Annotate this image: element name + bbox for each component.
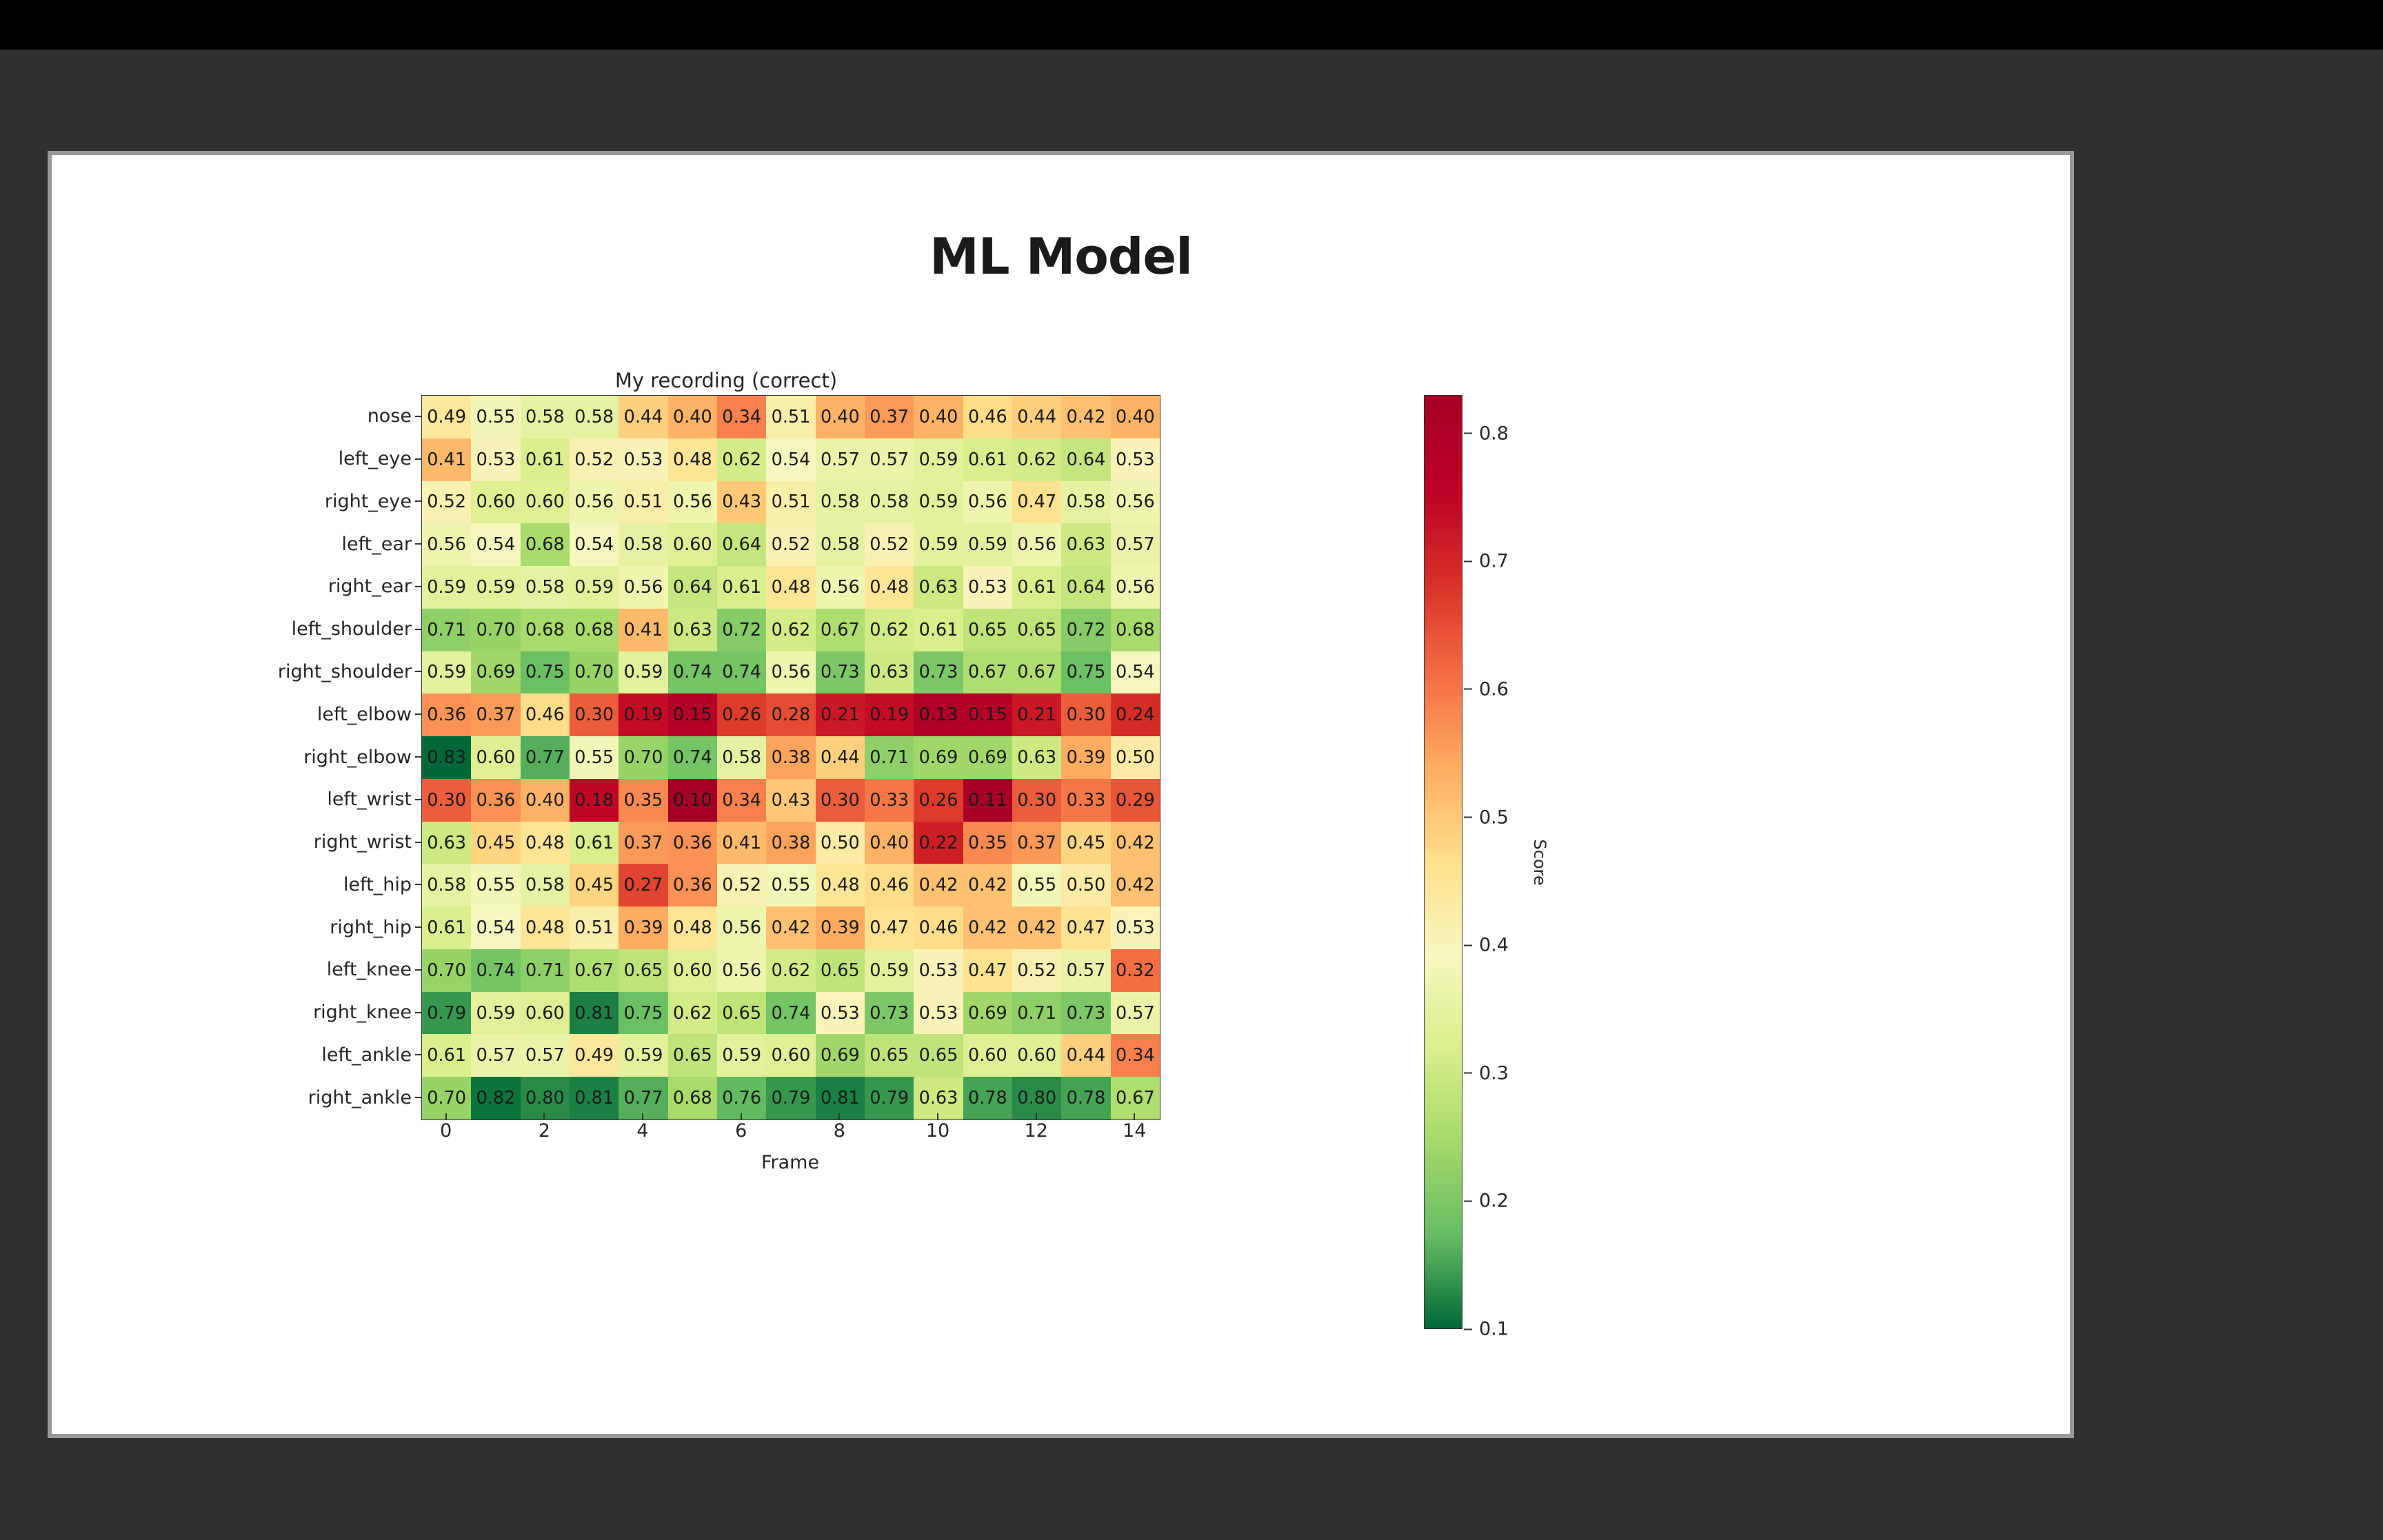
y-axis-tick-label: left_wrist: [293, 778, 421, 821]
heatmap-cell[interactable]: 0.49: [570, 1034, 619, 1077]
heatmap-cell[interactable]: 0.59: [570, 566, 619, 609]
heatmap-cell[interactable]: 0.56: [816, 566, 865, 609]
colorbar-tick-label: 0.8: [1464, 423, 1509, 444]
heatmap-cell[interactable]: 0.42: [963, 906, 1012, 949]
heatmap-cell[interactable]: 0.45: [1061, 822, 1110, 864]
heatmap-cell[interactable]: 0.56: [717, 906, 766, 949]
heatmap-cell[interactable]: 0.58: [521, 566, 570, 609]
heatmap-cell[interactable]: 0.59: [914, 438, 963, 481]
y-axis-tick-label: left_ear: [293, 523, 421, 565]
colorbar-tick-label: 0.3: [1464, 1062, 1509, 1084]
heatmap-cell[interactable]: 0.58: [521, 864, 570, 906]
heatmap-cell[interactable]: 0.44: [1061, 1034, 1110, 1077]
colorbar-tick-label: 0.5: [1464, 807, 1509, 828]
heatmap-cell[interactable]: 0.61: [422, 906, 471, 949]
heatmap-cell[interactable]: 0.53: [914, 992, 963, 1035]
heatmap-cell[interactable]: 0.72: [1061, 609, 1110, 651]
heatmap-cell[interactable]: 0.83: [422, 736, 471, 779]
heatmap-cell[interactable]: 0.69: [963, 736, 1012, 779]
colorbar-tick-mark: [1464, 944, 1472, 946]
heatmap-cell[interactable]: 0.29: [1111, 779, 1160, 822]
heatmap-cell[interactable]: 0.60: [668, 523, 717, 566]
heatmap-cell[interactable]: 0.43: [766, 779, 815, 822]
heatmap-cell[interactable]: 0.77: [521, 736, 570, 779]
heatmap-cell[interactable]: 0.35: [963, 822, 1012, 864]
heatmap-cell[interactable]: 0.60: [766, 1034, 815, 1077]
heatmap-cell[interactable]: 0.78: [963, 1077, 1012, 1119]
colorbar-tick-label: 0.1: [1464, 1319, 1509, 1340]
colorbar-tick-text: 0.7: [1479, 551, 1509, 572]
heatmap-cell[interactable]: 0.65: [914, 1034, 963, 1077]
heatmap-cell[interactable]: 0.15: [668, 693, 717, 736]
colorbar-tick-text: 0.3: [1479, 1062, 1509, 1084]
heatmap-cell[interactable]: 0.58: [816, 523, 865, 566]
heatmap-cell[interactable]: 0.21: [816, 693, 865, 736]
heatmap-cell[interactable]: 0.36: [668, 864, 717, 906]
heatmap-cell[interactable]: 0.28: [766, 693, 815, 736]
heatmap-cell[interactable]: 0.47: [1061, 906, 1110, 949]
heatmap-cell[interactable]: 0.68: [570, 609, 619, 651]
heatmap-cell[interactable]: 0.65: [668, 1034, 717, 1077]
heatmap-cell[interactable]: 0.64: [717, 523, 766, 566]
heatmap-cell[interactable]: 0.65: [717, 992, 766, 1035]
heatmap-cell[interactable]: 0.48: [668, 906, 717, 949]
heatmap-cell[interactable]: 0.30: [422, 779, 471, 822]
heatmap-cell[interactable]: 0.71: [1012, 992, 1061, 1035]
heatmap-cell[interactable]: 0.81: [570, 992, 619, 1035]
window-top-bar: [0, 0, 2383, 50]
heatmap-cell[interactable]: 0.51: [766, 396, 815, 438]
heatmap-cell[interactable]: 0.56: [766, 651, 815, 694]
heatmap-cell[interactable]: 0.19: [865, 693, 914, 736]
heatmap-cell[interactable]: 0.61: [914, 609, 963, 651]
heatmap-cell[interactable]: 0.48: [766, 566, 815, 609]
heatmap-cell[interactable]: 0.10: [668, 779, 717, 822]
heatmap-cell[interactable]: 0.57: [1061, 949, 1110, 992]
heatmap-grid[interactable]: 0.490.550.580.580.440.400.340.510.400.37…: [421, 395, 1160, 1120]
heatmap-cell[interactable]: 0.56: [570, 481, 619, 524]
heatmap-cell[interactable]: 0.13: [914, 693, 963, 736]
heatmap-cell[interactable]: 0.55: [471, 396, 520, 438]
heatmap-cell[interactable]: 0.70: [619, 736, 667, 779]
heatmap-cell[interactable]: 0.52: [717, 864, 766, 906]
heatmap-cell[interactable]: 0.61: [963, 438, 1012, 481]
heatmap-cell[interactable]: 0.33: [1061, 779, 1110, 822]
heatmap-cell[interactable]: 0.59: [914, 523, 963, 566]
heatmap-cell[interactable]: 0.57: [816, 438, 865, 481]
x-axis-tick-label: 10: [926, 1120, 949, 1142]
heatmap-cell[interactable]: 0.74: [668, 736, 717, 779]
heatmap-cell[interactable]: 0.67: [570, 949, 619, 992]
heatmap-cell[interactable]: 0.55: [570, 736, 619, 779]
heatmap-cell[interactable]: 0.18: [570, 779, 619, 822]
heatmap-cell[interactable]: 0.53: [471, 438, 520, 481]
heatmap-cell[interactable]: 0.56: [963, 481, 1012, 524]
heatmap-cell[interactable]: 0.50: [1111, 736, 1160, 779]
heatmap-cell[interactable]: 0.71: [521, 949, 570, 992]
heatmap-cell[interactable]: 0.69: [963, 992, 1012, 1035]
heatmap-cell[interactable]: 0.38: [766, 822, 815, 864]
heatmap-cell[interactable]: 0.50: [1061, 864, 1110, 906]
heatmap-cell[interactable]: 0.61: [1012, 566, 1061, 609]
heatmap-cell[interactable]: 0.67: [1012, 651, 1061, 694]
heatmap-cell[interactable]: 0.73: [865, 992, 914, 1035]
heatmap-cell[interactable]: 0.73: [816, 651, 865, 694]
heatmap-cell[interactable]: 0.54: [471, 906, 520, 949]
x-axis-tick-label: 12: [1024, 1120, 1047, 1142]
heatmap-cell[interactable]: 0.46: [914, 906, 963, 949]
heatmap-cell[interactable]: 0.69: [471, 651, 520, 694]
heatmap-cell[interactable]: 0.56: [1111, 566, 1160, 609]
heatmap-cell[interactable]: 0.55: [1012, 864, 1061, 906]
heatmap-cell[interactable]: 0.62: [766, 609, 815, 651]
heatmap-cell[interactable]: 0.63: [914, 566, 963, 609]
colorbar-tick-mark: [1464, 560, 1472, 562]
heatmap-cell[interactable]: 0.57: [1111, 992, 1160, 1035]
heatmap-cell[interactable]: 0.44: [816, 736, 865, 779]
heatmap-cell[interactable]: 0.58: [570, 396, 619, 438]
heatmap-cell[interactable]: 0.75: [521, 651, 570, 694]
heatmap-cell[interactable]: 0.34: [1111, 1034, 1160, 1077]
heatmap-cell[interactable]: 0.76: [717, 1077, 766, 1119]
heatmap-cell[interactable]: 0.57: [865, 438, 914, 481]
heatmap-cell[interactable]: 0.79: [766, 1077, 815, 1119]
heatmap-cell[interactable]: 0.58: [1061, 481, 1110, 524]
heatmap-cell[interactable]: 0.65: [816, 949, 865, 992]
x-axis-label: Frame: [421, 1152, 1159, 1173]
heatmap-cell[interactable]: 0.30: [570, 693, 619, 736]
heatmap-cell[interactable]: 0.41: [619, 609, 667, 651]
heatmap-cell[interactable]: 0.70: [422, 949, 471, 992]
colorbar-tick-text: 0.1: [1479, 1319, 1509, 1340]
y-axis-tick-labels: noseleft_eyeright_eyeleft_earright_earle…: [293, 395, 421, 1119]
heatmap-cell[interactable]: 0.40: [914, 396, 963, 438]
heatmap-cell[interactable]: 0.56: [1111, 481, 1160, 524]
heatmap-cell[interactable]: 0.68: [668, 1077, 717, 1119]
heatmap-cell[interactable]: 0.65: [619, 949, 667, 992]
heatmap-cell[interactable]: 0.42: [1111, 822, 1160, 864]
heatmap-cell[interactable]: 0.57: [471, 1034, 520, 1077]
heatmap-cell[interactable]: 0.53: [816, 992, 865, 1035]
heatmap-cell[interactable]: 0.39: [1061, 736, 1110, 779]
heatmap-cell[interactable]: 0.52: [1012, 949, 1061, 992]
heatmap-cell[interactable]: 0.47: [865, 906, 914, 949]
heatmap-cell[interactable]: 0.80: [1012, 1077, 1061, 1119]
x-axis-tick-mark: [937, 1113, 938, 1119]
y-axis-tick-label: right_knee: [293, 991, 421, 1034]
heatmap-cell[interactable]: 0.56: [619, 566, 667, 609]
heatmap-cell[interactable]: 0.65: [963, 609, 1012, 651]
heatmap-cell[interactable]: 0.61: [717, 566, 766, 609]
heatmap-cell[interactable]: 0.59: [619, 651, 667, 694]
heatmap-cell[interactable]: 0.41: [422, 438, 471, 481]
heatmap-cell[interactable]: 0.58: [619, 523, 667, 566]
heatmap-cell[interactable]: 0.64: [668, 566, 717, 609]
x-axis-tick-label: 4: [636, 1120, 648, 1142]
heatmap-cell[interactable]: 0.42: [1061, 396, 1110, 438]
heatmap-cell[interactable]: 0.74: [471, 949, 520, 992]
heatmap-cell[interactable]: 0.47: [1012, 481, 1061, 524]
heatmap-cell[interactable]: 0.54: [1111, 651, 1160, 694]
heatmap-cell[interactable]: 0.42: [766, 906, 815, 949]
heatmap-cell[interactable]: 0.81: [816, 1077, 865, 1119]
heatmap-cell[interactable]: 0.27: [619, 864, 667, 906]
heatmap-cell[interactable]: 0.30: [1012, 779, 1061, 822]
heatmap-cell[interactable]: 0.51: [619, 481, 667, 524]
heatmap-cell[interactable]: 0.56: [668, 481, 717, 524]
y-axis-tick-label: left_eye: [293, 438, 421, 480]
heatmap-cell[interactable]: 0.40: [521, 779, 570, 822]
heatmap-cell[interactable]: 0.15: [963, 693, 1012, 736]
heatmap-cell[interactable]: 0.47: [963, 949, 1012, 992]
heatmap-cell[interactable]: 0.53: [963, 566, 1012, 609]
heatmap-cell[interactable]: 0.37: [1012, 822, 1061, 864]
heatmap-cell[interactable]: 0.36: [668, 822, 717, 864]
heatmap-cell[interactable]: 0.60: [521, 481, 570, 524]
heatmap-cell[interactable]: 0.72: [717, 609, 766, 651]
x-axis-tick-label: 14: [1123, 1120, 1146, 1142]
y-axis-tick-label: right_shoulder: [293, 651, 421, 693]
heatmap-cell[interactable]: 0.34: [717, 396, 766, 438]
colorbar: Score 0.10.20.30.40.50.60.70.8: [1424, 395, 1589, 1329]
heatmap-cell[interactable]: 0.63: [1061, 523, 1110, 566]
heatmap-cell[interactable]: 0.65: [865, 1034, 914, 1077]
heatmap-cell[interactable]: 0.39: [619, 906, 667, 949]
heatmap-cell[interactable]: 0.19: [619, 693, 667, 736]
x-axis-tick-label: 8: [834, 1120, 845, 1142]
y-axis-tick-label: left_shoulder: [293, 608, 421, 651]
heatmap-cell[interactable]: 0.69: [816, 1034, 865, 1077]
heatmap-cell[interactable]: 0.65: [1012, 609, 1061, 651]
heatmap-cell[interactable]: 0.82: [471, 1077, 520, 1119]
heatmap-cell[interactable]: 0.53: [1111, 906, 1160, 949]
heatmap-cell[interactable]: 0.63: [422, 822, 471, 864]
heatmap-cell[interactable]: 0.48: [865, 566, 914, 609]
heatmap-cell[interactable]: 0.24: [1111, 693, 1160, 736]
heatmap-cell[interactable]: 0.58: [816, 481, 865, 524]
heatmap-cell[interactable]: 0.62: [717, 438, 766, 481]
heatmap-cell[interactable]: 0.57: [521, 1034, 570, 1077]
heatmap-cell[interactable]: 0.54: [766, 438, 815, 481]
heatmap-cell[interactable]: 0.64: [1061, 438, 1110, 481]
y-axis-tick-label: right_hip: [293, 906, 421, 949]
y-axis-tick-label: right_eye: [293, 480, 421, 523]
heatmap-cell[interactable]: 0.79: [865, 1077, 914, 1119]
heatmap-cell[interactable]: 0.40: [865, 822, 914, 864]
heatmap-cell[interactable]: 0.81: [570, 1077, 619, 1119]
heatmap-cell[interactable]: 0.22: [914, 822, 963, 864]
heatmap-cell[interactable]: 0.48: [521, 822, 570, 864]
heatmap-cell[interactable]: 0.42: [1012, 906, 1061, 949]
y-axis-tick-label: right_ankle: [293, 1076, 421, 1119]
colorbar-gradient: [1424, 395, 1462, 1329]
heatmap-cell[interactable]: 0.63: [1012, 736, 1061, 779]
heatmap-cell[interactable]: 0.39: [816, 906, 865, 949]
heatmap-cell[interactable]: 0.40: [816, 396, 865, 438]
heatmap-cell[interactable]: 0.44: [619, 396, 667, 438]
heatmap-cell[interactable]: 0.52: [766, 523, 815, 566]
heatmap-cell[interactable]: 0.58: [422, 864, 471, 906]
heatmap-cell[interactable]: 0.26: [914, 779, 963, 822]
heatmap-cell[interactable]: 0.42: [914, 864, 963, 906]
heatmap-cell[interactable]: 0.43: [717, 481, 766, 524]
heatmap-cell[interactable]: 0.70: [422, 1077, 471, 1119]
heatmap-cell[interactable]: 0.56: [422, 523, 471, 566]
colorbar-tick-mark: [1464, 817, 1472, 818]
heatmap-cell[interactable]: 0.35: [619, 779, 667, 822]
heatmap-cell[interactable]: 0.69: [914, 736, 963, 779]
heatmap-cell[interactable]: 0.68: [521, 523, 570, 566]
heatmap-cell[interactable]: 0.63: [668, 609, 717, 651]
colorbar-tick-text: 0.8: [1479, 423, 1509, 444]
heatmap-cell[interactable]: 0.70: [570, 651, 619, 694]
heatmap-cell[interactable]: 0.58: [717, 736, 766, 779]
heatmap-cell[interactable]: 0.48: [816, 864, 865, 906]
chart-subtitle: My recording (correct): [293, 369, 1159, 392]
heatmap-cell[interactable]: 0.60: [521, 992, 570, 1035]
heatmap-cell[interactable]: 0.52: [422, 481, 471, 524]
heatmap-cell[interactable]: 0.61: [521, 438, 570, 481]
x-axis-tick-mark: [741, 1113, 742, 1119]
heatmap-cell[interactable]: 0.58: [521, 396, 570, 438]
heatmap-cell[interactable]: 0.26: [717, 693, 766, 736]
heatmap-cell[interactable]: 0.53: [1111, 438, 1160, 481]
heatmap-cell[interactable]: 0.42: [1111, 864, 1160, 906]
colorbar-tick-mark: [1464, 1200, 1472, 1202]
heatmap-cell[interactable]: 0.40: [668, 396, 717, 438]
heatmap-cell[interactable]: 0.59: [471, 992, 520, 1035]
heatmap-cell[interactable]: 0.60: [471, 481, 520, 524]
heatmap-cell[interactable]: 0.58: [865, 481, 914, 524]
heatmap-cell[interactable]: 0.62: [1012, 438, 1061, 481]
heatmap-cell[interactable]: 0.71: [865, 736, 914, 779]
x-axis-tick-label: 0: [440, 1120, 452, 1142]
heatmap-cell[interactable]: 0.54: [570, 523, 619, 566]
content-panel: ML Model My recording (correct) noseleft…: [52, 155, 2070, 1434]
heatmap-cell[interactable]: 0.38: [766, 736, 815, 779]
heatmap-cell[interactable]: 0.61: [570, 822, 619, 864]
heatmap-cell[interactable]: 0.59: [422, 651, 471, 694]
heatmap-cell[interactable]: 0.45: [570, 864, 619, 906]
heatmap-cell[interactable]: 0.53: [914, 949, 963, 992]
heatmap-cell[interactable]: 0.55: [471, 864, 520, 906]
heatmap-cell[interactable]: 0.54: [471, 523, 520, 566]
heatmap-cell[interactable]: 0.60: [1012, 1034, 1061, 1077]
heatmap-cell[interactable]: 0.32: [1111, 949, 1160, 992]
heatmap-cell[interactable]: 0.11: [963, 779, 1012, 822]
heatmap-cell[interactable]: 0.60: [471, 736, 520, 779]
heatmap-cell[interactable]: 0.40: [1111, 396, 1160, 438]
heatmap-cell[interactable]: 0.68: [521, 609, 570, 651]
heatmap-cell[interactable]: 0.59: [963, 523, 1012, 566]
heatmap-cell[interactable]: 0.44: [1012, 396, 1061, 438]
heatmap-cell[interactable]: 0.30: [1061, 693, 1110, 736]
heatmap-cell[interactable]: 0.59: [619, 1034, 667, 1077]
heatmap-cell[interactable]: 0.52: [865, 523, 914, 566]
heatmap-cell[interactable]: 0.46: [865, 864, 914, 906]
heatmap-cell[interactable]: 0.30: [816, 779, 865, 822]
heatmap-cell[interactable]: 0.41: [717, 822, 766, 864]
heatmap-cell[interactable]: 0.73: [914, 651, 963, 694]
colorbar-tick-mark: [1464, 689, 1472, 690]
heatmap-cell[interactable]: 0.56: [1012, 523, 1061, 566]
colorbar-tick-mark: [1464, 1073, 1472, 1074]
colorbar-tick-label: 0.4: [1464, 935, 1509, 956]
heatmap-cell[interactable]: 0.55: [766, 864, 815, 906]
heatmap-cell[interactable]: 0.74: [766, 992, 815, 1035]
heatmap-cell[interactable]: 0.51: [766, 481, 815, 524]
heatmap-figure: My recording (correct) noseleft_eyeright…: [293, 369, 1844, 1389]
heatmap-cell[interactable]: 0.62: [766, 949, 815, 992]
heatmap-cell[interactable]: 0.46: [521, 693, 570, 736]
heatmap-cell[interactable]: 0.59: [471, 566, 520, 609]
x-axis-tick-mark: [642, 1113, 643, 1119]
heatmap-cell[interactable]: 0.67: [816, 609, 865, 651]
heatmap-cell[interactable]: 0.60: [963, 1034, 1012, 1077]
heatmap-cell[interactable]: 0.57: [1111, 523, 1160, 566]
heatmap-cell[interactable]: 0.42: [963, 864, 1012, 906]
heatmap-cell[interactable]: 0.78: [1061, 1077, 1110, 1119]
heatmap-cell[interactable]: 0.21: [1012, 693, 1061, 736]
heatmap-cell[interactable]: 0.50: [816, 822, 865, 864]
heatmap-cell[interactable]: 0.53: [619, 438, 667, 481]
heatmap-cell[interactable]: 0.75: [1061, 651, 1110, 694]
x-axis-tick-label: 6: [735, 1120, 747, 1142]
heatmap-cell[interactable]: 0.52: [570, 438, 619, 481]
heatmap-cell[interactable]: 0.62: [865, 609, 914, 651]
heatmap-cell[interactable]: 0.68: [1111, 609, 1160, 651]
heatmap-cell[interactable]: 0.79: [422, 992, 471, 1035]
heatmap-cell[interactable]: 0.59: [865, 949, 914, 992]
heatmap-cell[interactable]: 0.33: [865, 779, 914, 822]
heatmap-cell[interactable]: 0.70: [471, 609, 520, 651]
heatmap-cell[interactable]: 0.80: [521, 1077, 570, 1119]
heatmap-cell[interactable]: 0.46: [963, 396, 1012, 438]
heatmap-cell[interactable]: 0.37: [471, 693, 520, 736]
heatmap-cell[interactable]: 0.36: [422, 693, 471, 736]
heatmap-cell[interactable]: 0.62: [668, 992, 717, 1035]
heatmap-cell[interactable]: 0.49: [422, 396, 471, 438]
heatmap-cell[interactable]: 0.75: [619, 992, 667, 1035]
heatmap-cell[interactable]: 0.48: [521, 906, 570, 949]
heatmap-cell[interactable]: 0.51: [570, 906, 619, 949]
heatmap-cell[interactable]: 0.67: [1111, 1077, 1160, 1119]
heatmap-cell[interactable]: 0.67: [963, 651, 1012, 694]
heatmap-cell[interactable]: 0.37: [865, 396, 914, 438]
heatmap-cell[interactable]: 0.56: [717, 949, 766, 992]
heatmap-cell[interactable]: 0.74: [717, 651, 766, 694]
heatmap-cell[interactable]: 0.61: [422, 1034, 471, 1077]
heatmap-cell[interactable]: 0.59: [422, 566, 471, 609]
heatmap-cell[interactable]: 0.48: [668, 438, 717, 481]
heatmap-cell[interactable]: 0.74: [668, 651, 717, 694]
colorbar-label: Score: [1530, 839, 1549, 885]
heatmap-cell[interactable]: 0.45: [471, 822, 520, 864]
heatmap-cell[interactable]: 0.59: [914, 481, 963, 524]
colorbar-tick-mark: [1464, 433, 1472, 434]
heatmap-cell[interactable]: 0.64: [1061, 566, 1110, 609]
colorbar-tick-label: 0.6: [1464, 678, 1509, 700]
heatmap-cell[interactable]: 0.59: [717, 1034, 766, 1077]
heatmap-cell[interactable]: 0.37: [619, 822, 667, 864]
heatmap-cell[interactable]: 0.63: [865, 651, 914, 694]
x-axis-tick-label: 2: [539, 1120, 550, 1142]
heatmap-cell[interactable]: 0.73: [1061, 992, 1110, 1035]
heatmap-cell[interactable]: 0.60: [668, 949, 717, 992]
heatmap-cell[interactable]: 0.71: [422, 609, 471, 651]
heatmap-cell[interactable]: 0.36: [471, 779, 520, 822]
heatmap-cell[interactable]: 0.34: [717, 779, 766, 822]
